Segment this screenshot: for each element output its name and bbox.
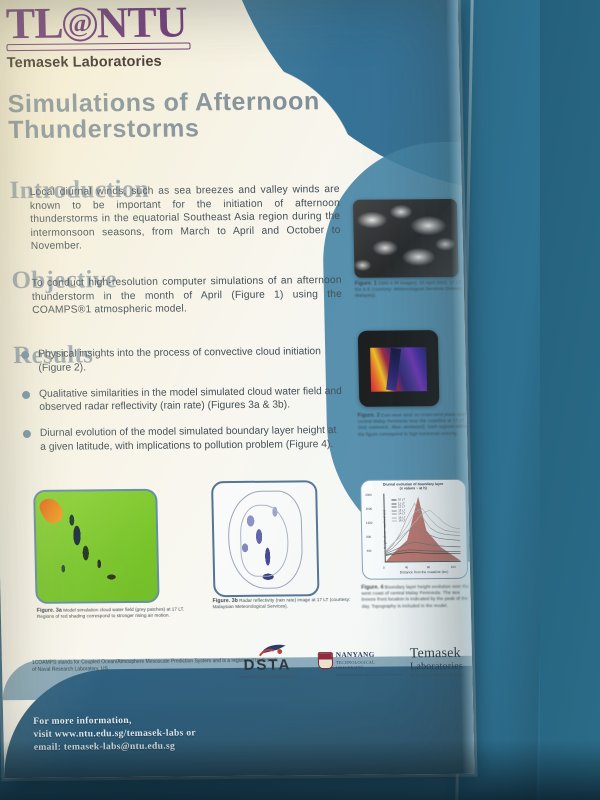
figure-4-chart: Diurnal evolution of boundary layer (x v… (360, 479, 468, 580)
temasek-ntu-logo: TL@NTU Temasek Laboratories (5, 0, 227, 71)
bullet-dot-icon (22, 391, 30, 399)
bullet-dot-icon (21, 351, 29, 359)
chart-xtick: 40 (405, 565, 408, 569)
partner-logo-strip: DSTA Defence Science & Technology Agency… (238, 647, 469, 699)
legend-swatch-icon (392, 517, 397, 518)
list-item-label: Qualitative similarities in the model si… (39, 385, 343, 415)
legend-swatch-icon (392, 514, 397, 515)
list-item-label: Physical insights into the process of co… (38, 345, 342, 375)
figure-3b-image (211, 480, 320, 597)
chart-ytick: 400 (367, 549, 372, 553)
figure-2-caption: Figure. 2 East-west wind on cross-wind p… (358, 412, 471, 438)
poster-board: TL@NTU Temasek Laboratories Simulations … (0, 0, 483, 786)
list-item-label: Diurnal evolution of the model simulated… (40, 424, 344, 454)
bullet-dot-icon (23, 430, 31, 438)
list-item: Physical insights into the process of co… (21, 345, 342, 376)
chart-title: Diurnal evolution of boundary layer (x v… (361, 482, 465, 492)
chart-ytick: 1200 (366, 521, 373, 525)
figure-3a-image (33, 489, 159, 604)
chart-ytick: 800 (366, 535, 371, 539)
tl-line2: Laboratories (410, 661, 463, 673)
logo-wordmark: TL@NTU (5, 0, 187, 48)
tl-subtitle: @ National University of Singapore (410, 673, 463, 678)
chart-xtick: 80 (427, 565, 430, 569)
chart-xtick: 100 (451, 565, 456, 569)
legend-swatch-icon (391, 500, 396, 501)
figure-3b-caption: Figure. 3b Radar reflectivity (rain rate… (213, 597, 353, 611)
dsta-swirl-icon (258, 642, 288, 658)
chart-xtick: 0 (383, 566, 385, 570)
at-symbol-icon: @ (62, 7, 97, 41)
legend-swatch-icon (392, 503, 397, 504)
results-bullet-list: Physical insights into the process of co… (21, 345, 344, 467)
dsta-logo: DSTA Defence Science & Technology Agency (238, 656, 297, 679)
section-body-introduction: Local diurnal winds, such as sea breezes… (30, 183, 341, 254)
poster-content: TL@NTU Temasek Laboratories Simulations … (0, 0, 474, 778)
ntu-subtitle: School of Physical and Mathematical Scie… (336, 672, 402, 677)
chart-ytick: 2000 (365, 493, 372, 497)
chart-ytick: 1600 (366, 507, 373, 511)
figure-2-image (358, 330, 440, 407)
legend-swatch-icon (392, 521, 397, 522)
figure-1-caption: Figure. 1 GMS-5 IR imagery, 23 April 200… (355, 280, 473, 300)
section-body-objective: To conduct high-resolution computer simu… (32, 274, 343, 318)
tl-line1: Temasek (410, 647, 463, 662)
list-item: Diurnal evolution of the model simulated… (23, 424, 344, 455)
chart-legend-item: 16 LT (392, 519, 406, 523)
ntu-line3: UNIVERSITY (336, 664, 402, 670)
exhibition-panel-far (540, 0, 600, 800)
logo-mark-left: TL (5, 0, 63, 48)
dsta-wordmark: DSTA (238, 656, 297, 674)
chart-xlabel: Distance from the coastline (km) (385, 570, 463, 575)
figure-1-image (353, 199, 459, 278)
temasek-laboratories-logo: Temasek Laboratories @ National Universi… (410, 647, 464, 678)
chart-legend: 10 LT11 LT12 LT13 LT14 LT15 LT16 LT (391, 498, 405, 523)
ntu-logo: NANYANG TECHNOLOGICAL UNIVERSITY School … (318, 651, 402, 676)
figure-3a-caption: Figure. 3a Model simulation cloud water … (37, 606, 197, 620)
figure-4-caption: Figure. 4 Boundary layer height evolutio… (361, 584, 470, 610)
ntu-crest-icon (318, 652, 333, 669)
logo-mark-right: NTU (96, 0, 187, 47)
logo-subtitle: Temasek Laboratories (7, 53, 227, 71)
dsta-subtitle: Defence Science & Technology Agency (238, 674, 297, 679)
list-item: Qualitative similarities in the model si… (22, 385, 343, 416)
legend-swatch-icon (392, 507, 397, 508)
legend-swatch-icon (392, 510, 397, 511)
legend-label: 16 LT (398, 519, 405, 523)
floor-shadow (0, 740, 600, 800)
photo-scene: TL@NTU Temasek Laboratories Simulations … (0, 0, 600, 800)
page-title: Simulations of Afternoon Thunderstorms (7, 88, 378, 144)
